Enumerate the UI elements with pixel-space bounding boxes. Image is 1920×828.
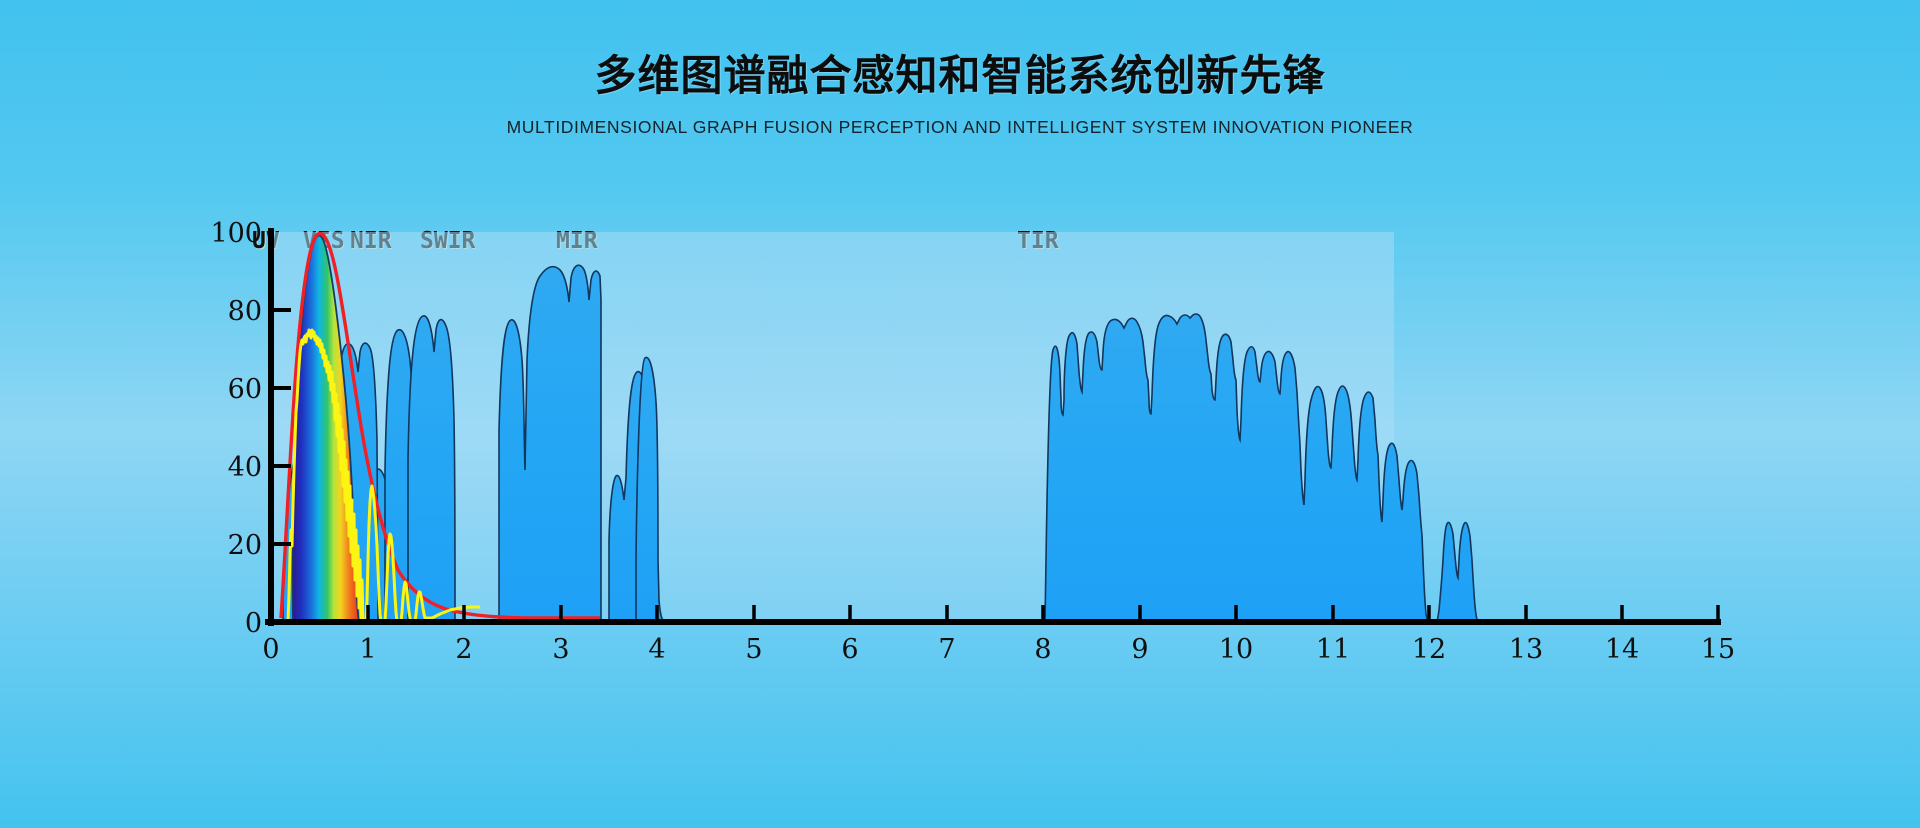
x-tick-labels: 0 1 2 3 4 5 6 7 8 9 10 11 12 13 14 15	[262, 634, 1735, 665]
y-tick-label-60: 60	[228, 374, 262, 405]
transmission-band-swir-2	[408, 316, 455, 622]
y-tick-label-20: 20	[228, 530, 262, 561]
x-tick-label-13: 13	[1509, 634, 1543, 665]
x-tick-label-9: 9	[1131, 634, 1148, 665]
x-tick-label-11: 11	[1316, 634, 1350, 665]
y-tick-label-0: 0	[245, 608, 262, 639]
x-tick-label-7: 7	[938, 634, 955, 665]
x-tick-label-14: 14	[1605, 634, 1639, 665]
transmission-band-tir	[1045, 314, 1486, 622]
spectral-banner: 多维图谱融合感知和智能系统创新先锋 MULTIDIMENSIONAL GRAPH…	[0, 0, 1920, 828]
y-tick-label-100: 100	[210, 218, 262, 249]
y-tick-label-80: 80	[228, 296, 262, 327]
y-tick-labels: 100 80 60 40 20 0	[210, 218, 262, 639]
x-tick-label-4: 4	[648, 634, 665, 665]
x-tick-label-8: 8	[1034, 634, 1051, 665]
x-tick-label-5: 5	[745, 634, 762, 665]
x-tick-label-3: 3	[552, 634, 569, 665]
spectral-chart: 100 80 60 40 20 0 0 1 2 3 4 5 6 7 8 9 10…	[0, 0, 1920, 828]
x-tick-label-12: 12	[1412, 634, 1446, 665]
x-tick-label-6: 6	[841, 634, 858, 665]
x-tick-label-1: 1	[359, 634, 376, 665]
x-tick-label-0: 0	[262, 634, 279, 665]
y-tick-label-40: 40	[228, 452, 262, 483]
x-tick-label-10: 10	[1219, 634, 1253, 665]
x-tick-label-15: 15	[1701, 634, 1735, 665]
chart-svg: 100 80 60 40 20 0 0 1 2 3 4 5 6 7 8 9 10…	[0, 0, 1920, 828]
x-tick-label-2: 2	[455, 634, 472, 665]
